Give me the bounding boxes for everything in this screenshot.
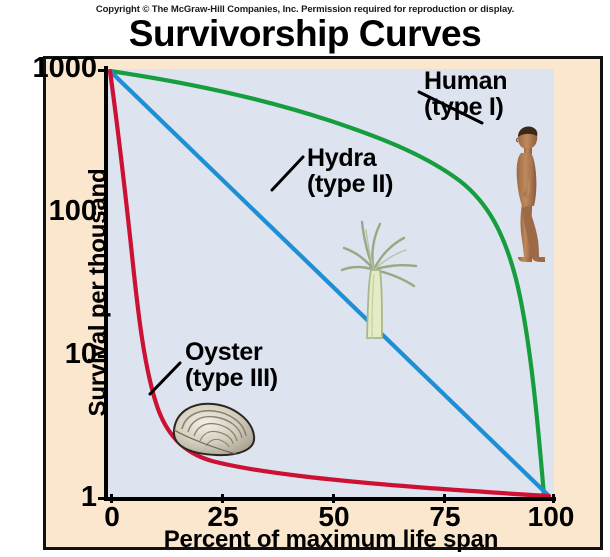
oyster-curve-label: Oyster (type III) — [185, 339, 278, 391]
y-axis-title: Survival per thousand — [86, 78, 111, 508]
hydra-curve-label: Hydra (type II) — [307, 145, 393, 197]
y-tick-1000 — [98, 69, 106, 72]
x-axis-title: Percent of maximum life span — [108, 527, 554, 552]
human-curve-label: Human (type I) — [424, 68, 507, 120]
oyster-illustration — [166, 398, 258, 460]
human-label-line1: Human — [424, 68, 507, 94]
hydra-label-line1: Hydra — [307, 145, 393, 171]
human-label-line2: (type I) — [424, 94, 507, 120]
hydra-label-line2: (type II) — [307, 171, 393, 197]
oyster-label-line1: Oyster — [185, 339, 278, 365]
y-tick-labels: 1000 100 10 1 — [0, 0, 97, 557]
hydra-illustration — [330, 208, 430, 340]
human-figure-illustration — [504, 124, 548, 264]
oyster-label-line2: (type III) — [185, 365, 278, 391]
